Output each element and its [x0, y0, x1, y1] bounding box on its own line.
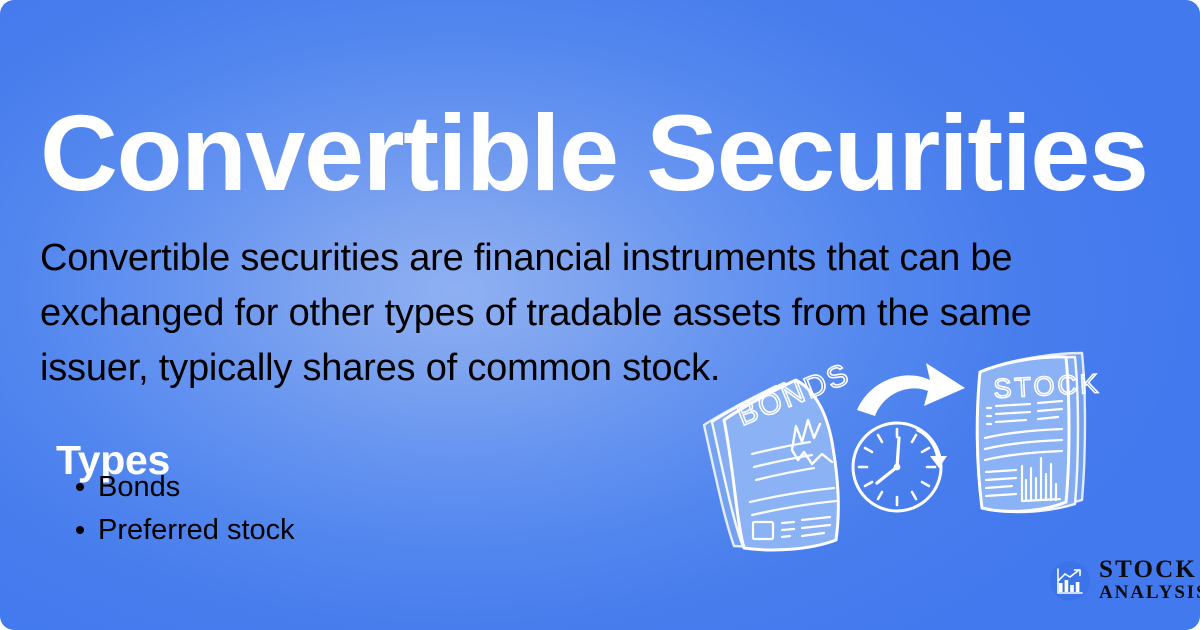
stock-analysis-chart-icon — [1050, 561, 1090, 601]
page-title: Convertible Securities — [40, 94, 1180, 212]
infographic-card: Convertible Securities Convertible secur… — [0, 0, 1200, 630]
bonds-document: BONDS — [704, 357, 855, 550]
stock-label: STOCK — [993, 368, 1102, 404]
stock-analysis-logo[interactable]: STOCK ANALYSIS — [1050, 558, 1200, 603]
logo-wordmark: STOCK ANALYSIS — [1099, 558, 1200, 603]
types-list: Bonds Preferred stock — [60, 466, 295, 552]
list-item: Preferred stock — [98, 509, 295, 552]
stock-document: STOCK — [977, 353, 1101, 512]
logo-line-analysis: ANALYSIS — [1099, 582, 1200, 603]
illustration: BONDS — [690, 350, 1160, 580]
clock-refresh-icon — [853, 423, 947, 511]
curved-arrow-icon — [857, 363, 965, 416]
list-item: Bonds — [98, 466, 295, 509]
logo-line-stock: STOCK — [1099, 558, 1200, 582]
